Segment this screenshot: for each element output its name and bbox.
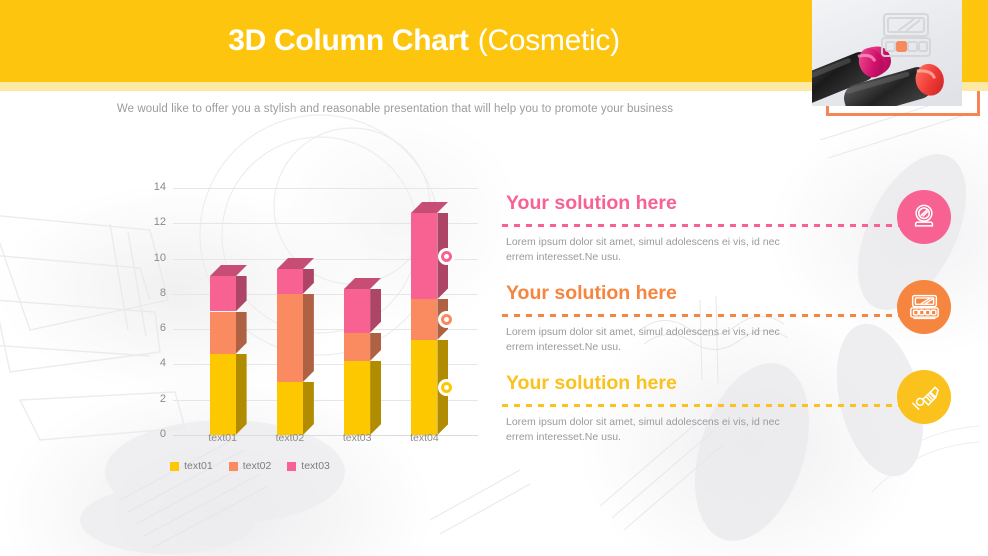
bar-segment-text01 — [344, 361, 370, 435]
page-title: 3D Column Chart (Cosmetic) — [0, 0, 988, 82]
y-axis-tick: 4 — [140, 357, 166, 369]
bar-callout-marker[interactable] — [438, 248, 455, 265]
bar-segment-text01 — [411, 340, 437, 435]
bar-segment-text03 — [210, 276, 236, 311]
chart-legend: text01text02text03 — [0, 460, 500, 472]
legend-item[interactable]: text03 — [287, 460, 330, 472]
legend-item[interactable]: text02 — [229, 460, 272, 472]
x-axis-tick: text01 — [193, 432, 253, 444]
bar-segment-text02 — [344, 333, 370, 361]
compact-mirror-icon[interactable] — [897, 190, 951, 244]
legend-swatch — [229, 462, 238, 471]
solution-body-text: Lorem ipsum dolor sit amet, simul adoles… — [506, 235, 806, 265]
y-axis-tick: 12 — [140, 216, 166, 228]
y-axis-tick: 0 — [140, 428, 166, 440]
bar-segment-text03 — [411, 213, 437, 299]
bar-segment-text02 — [277, 294, 303, 382]
chart-bar[interactable] — [344, 120, 381, 435]
bar-segment-text01 — [277, 382, 303, 435]
bar-top-cap — [344, 278, 370, 289]
legend-item[interactable]: text01 — [170, 460, 213, 472]
legend-swatch — [287, 462, 296, 471]
y-axis-tick: 14 — [140, 181, 166, 193]
page-title-main: 3D Column Chart — [228, 24, 469, 58]
legend-label: text03 — [301, 460, 330, 472]
solution-item-1[interactable]: Your solution hereLorem ipsum dolor sit … — [490, 180, 988, 270]
bar-callout-marker[interactable] — [438, 311, 455, 328]
bar-segment-text02 — [411, 299, 437, 340]
legend-label: text01 — [184, 460, 213, 472]
solution-item-3[interactable]: Your solution hereLorem ipsum dolor sit … — [490, 360, 988, 450]
y-axis-tick: 10 — [140, 252, 166, 264]
bar-top-cap — [411, 202, 437, 213]
chart-bar[interactable] — [277, 120, 314, 435]
page-title-suffix: (Cosmetic) — [478, 24, 620, 58]
column-chart: 02468101214 text01text02text03text04 tex… — [0, 120, 500, 480]
bar-top-cap — [210, 265, 236, 276]
bar-segment-text01 — [210, 354, 236, 435]
solution-item-2[interactable]: Your solution hereLorem ipsum dolor sit … — [490, 270, 988, 360]
bar-segment-text03 — [344, 289, 370, 333]
bar-segment-text03 — [277, 269, 303, 294]
solutions-panel: Your solution hereLorem ipsum dolor sit … — [490, 180, 988, 450]
solution-dotted-rule — [502, 404, 906, 407]
legend-label: text02 — [243, 460, 272, 472]
page-subtitle: We would like to offer you a stylish and… — [0, 103, 988, 115]
x-axis-tick: text03 — [327, 432, 387, 444]
makeup-brush-icon[interactable] — [897, 370, 951, 424]
y-axis-tick: 8 — [140, 287, 166, 299]
y-axis-tick: 2 — [140, 393, 166, 405]
bar-callout-marker[interactable] — [438, 379, 455, 396]
chart-bar[interactable] — [210, 120, 247, 435]
y-axis-tick: 6 — [140, 322, 166, 334]
solution-dotted-rule — [502, 314, 906, 317]
solution-body-text: Lorem ipsum dolor sit amet, simul adoles… — [506, 325, 806, 355]
solution-body-text: Lorem ipsum dolor sit amet, simul adoles… — [506, 415, 806, 445]
makeup-palette-icon[interactable] — [897, 280, 951, 334]
x-axis-tick: text02 — [260, 432, 320, 444]
bar-segment-text02 — [210, 312, 236, 354]
x-axis-tick: text04 — [394, 432, 454, 444]
legend-swatch — [170, 462, 179, 471]
bar-top-cap — [277, 258, 303, 269]
solution-dotted-rule — [502, 224, 906, 227]
